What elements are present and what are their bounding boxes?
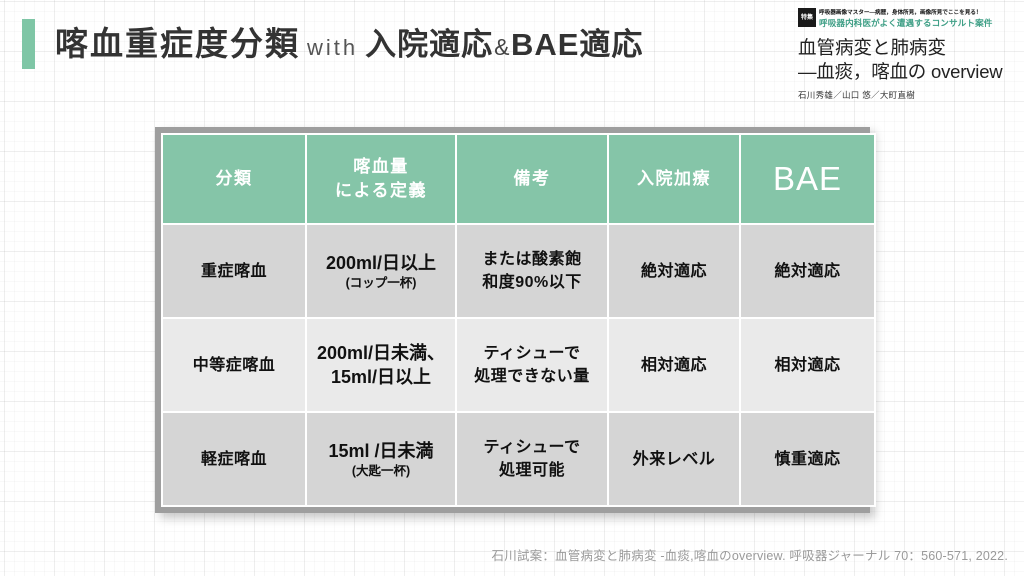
page-title-tail-a: 入院適応 (365, 27, 493, 62)
table-header-row: 分類 喀血量による定義 備考 入院加療 BAE (163, 135, 874, 223)
cell-admission: 外来レベル (609, 413, 739, 505)
cell-remarks: ティシューで処理可能 (457, 413, 607, 505)
cell-definition: 200ml/日未満、15ml/日以上 (307, 319, 455, 411)
journal-title-line2: —血痰，喀血の overview (798, 60, 1014, 84)
journal-authors: 石川秀雄／山口 悠／大町直樹 (798, 89, 1014, 101)
cell-bae: 相対適応 (741, 319, 874, 411)
journal-title-line1: 血管病変と肺病変 (798, 36, 1014, 60)
journal-banner-line2: 呼吸器内科医がよく遭遇するコンサルト案件 (819, 18, 1014, 29)
table-body: 重症喀血200ml/日以上(コップ一杯)または酸素飽和度90%以下絶対適応絶対適… (163, 225, 874, 505)
page-title-main: 喀血重症度分類 (55, 25, 300, 62)
page-title-tail-b: BAE適応 (511, 27, 643, 62)
table-head: 分類 喀血量による定義 備考 入院加療 BAE (163, 135, 874, 223)
journal-banner-line1: 呼吸器画像マスター—病歴，身体所見，画像所見でここを見る！ (819, 9, 1014, 18)
cell-bae: 絶対適応 (741, 225, 874, 317)
table-row: 軽症喀血15ml /日未満(大匙一杯)ティシューで処理可能外来レベル慎重適応 (163, 413, 874, 505)
page-title-with: with (300, 35, 365, 60)
column-header-admission: 入院加療 (609, 135, 739, 223)
journal-cover-block: 特集 呼吸器画像マスター—病歴，身体所見，画像所見でここを見る！ 呼吸器内科医が… (798, 8, 1014, 101)
column-header-remarks: 備考 (457, 135, 607, 223)
table-row: 中等症喀血200ml/日未満、15ml/日以上ティシューで処理できない量相対適応… (163, 319, 874, 411)
page-title-ampersand: & (493, 34, 511, 60)
cell-remarks: または酸素飽和度90%以下 (457, 225, 607, 317)
cell-definition: 15ml /日未満(大匙一杯) (307, 413, 455, 505)
column-header-bae: BAE (741, 135, 874, 223)
cell-definition: 200ml/日以上(コップ一杯) (307, 225, 455, 317)
cell-classification: 中等症喀血 (163, 319, 305, 411)
cell-classification: 重症喀血 (163, 225, 305, 317)
page-title: 喀血重症度分類with入院適応&BAE適応 (55, 20, 643, 72)
journal-title: 血管病変と肺病変 —血痰，喀血の overview (798, 36, 1014, 84)
cell-bae: 慎重適応 (741, 413, 874, 505)
title-accent-bar (22, 19, 35, 69)
cell-classification: 軽症喀血 (163, 413, 305, 505)
cell-admission: 絶対適応 (609, 225, 739, 317)
table-row: 重症喀血200ml/日以上(コップ一杯)または酸素飽和度90%以下絶対適応絶対適… (163, 225, 874, 317)
slide-canvas: 喀血重症度分類with入院適応&BAE適応 特集 呼吸器画像マスター—病歴，身体… (0, 0, 1024, 576)
journal-banner-text: 呼吸器画像マスター—病歴，身体所見，画像所見でここを見る！ 呼吸器内科医がよく遭… (819, 8, 1014, 29)
journal-banner: 特集 呼吸器画像マスター—病歴，身体所見，画像所見でここを見る！ 呼吸器内科医が… (798, 8, 1014, 30)
journal-feature-badge: 特集 (798, 8, 816, 27)
cell-definition-note: (コップ一杯) (312, 275, 450, 292)
severity-table: 分類 喀血量による定義 備考 入院加療 BAE 重症喀血200ml/日以上(コッ… (161, 133, 876, 507)
cell-admission: 相対適応 (609, 319, 739, 411)
cell-remarks: ティシューで処理できない量 (457, 319, 607, 411)
severity-table-container: 分類 喀血量による定義 備考 入院加療 BAE 重症喀血200ml/日以上(コッ… (155, 127, 870, 513)
cell-definition-note: (大匙一杯) (312, 463, 450, 480)
footer-citation: 石川試案：血管病変と肺病変 -血痰,喀血のoverview. 呼吸器ジャーナル … (492, 545, 1008, 564)
column-header-classification: 分類 (163, 135, 305, 223)
column-header-definition: 喀血量による定義 (307, 135, 455, 223)
